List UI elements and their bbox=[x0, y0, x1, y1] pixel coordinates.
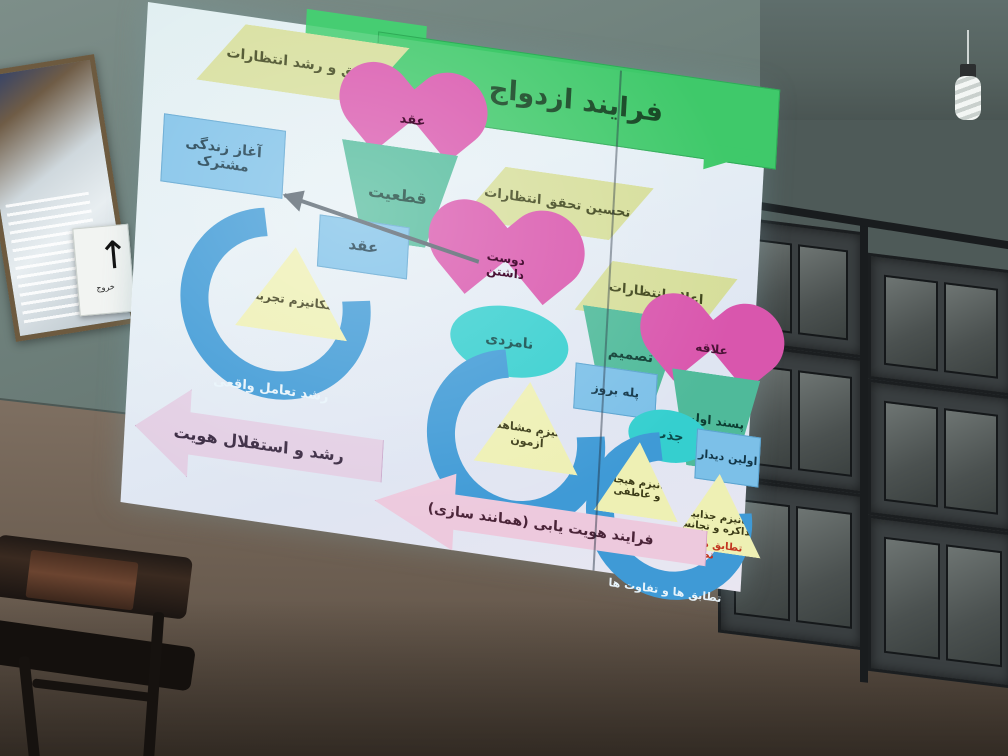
bulb-cord bbox=[967, 30, 969, 66]
classroom-photo-scene: ↑ خروج فرایند ازدواج تحقق و رشد انتظارات… bbox=[0, 0, 1008, 756]
projected-slide: فرایند ازدواج تحقق و رشد انتظارات عقد قط… bbox=[121, 2, 769, 592]
exit-sign-label: خروج bbox=[78, 281, 133, 295]
node-label: قطعیت bbox=[368, 182, 428, 209]
node-label: آغاز زندگی مشترک bbox=[162, 131, 284, 181]
exit-sign: ↑ خروج bbox=[72, 224, 135, 317]
node-rect-start-shared-life: آغاز زندگی مشترک bbox=[160, 113, 286, 199]
node-heart-loving: دوست داشتن bbox=[465, 216, 547, 305]
arrow-label: رشد و استقلال هویت bbox=[173, 422, 344, 466]
folding-chair bbox=[0, 536, 238, 756]
